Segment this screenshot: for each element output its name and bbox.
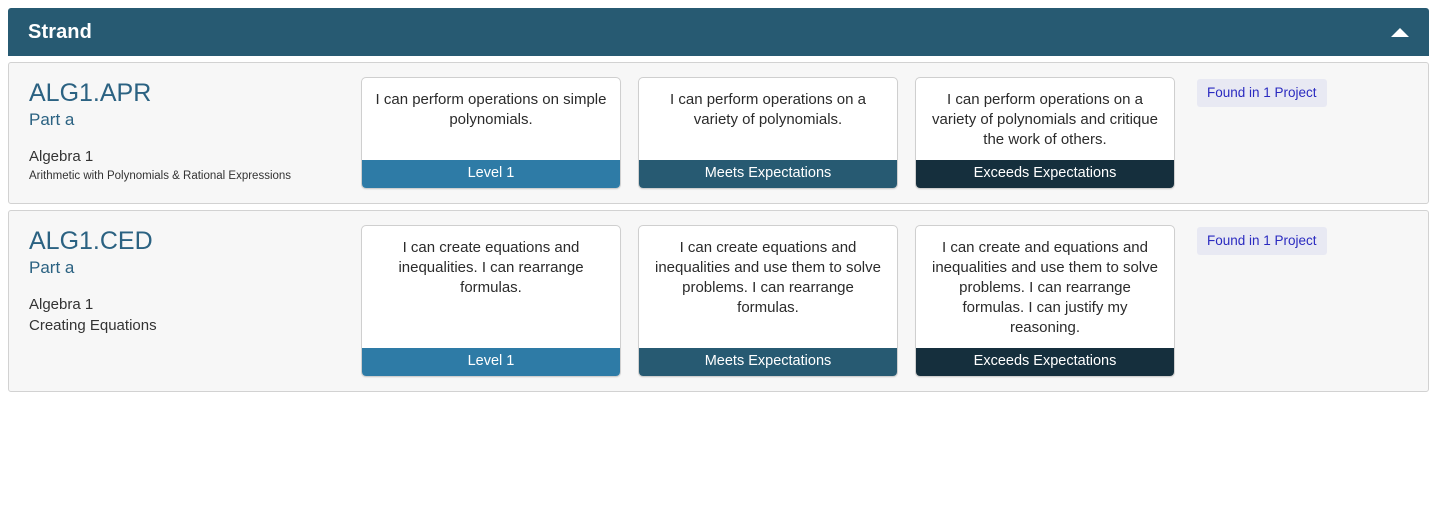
level-card[interactable]: I can create and equations and inequalit…	[915, 225, 1175, 377]
level-card-text: I can create equations and inequalities.…	[362, 226, 620, 348]
strand-section: Strand ALG1.APR Part a Algebra 1 Arithme…	[0, 0, 1437, 392]
level-card[interactable]: I can perform operations on simple polyn…	[361, 77, 621, 189]
standard-part: Part a	[29, 257, 347, 279]
standard-row: ALG1.CED Part a Algebra 1 Creating Equat…	[8, 210, 1429, 392]
level-card[interactable]: I can create equations and inequalities.…	[361, 225, 621, 377]
standard-domain: Arithmetic with Polynomials & Rational E…	[29, 168, 347, 184]
standard-course: Algebra 1	[29, 295, 347, 315]
level-card-group: I can create equations and inequalities.…	[361, 225, 1175, 377]
level-card-text: I can perform operations on simple polyn…	[362, 78, 620, 160]
standard-part: Part a	[29, 109, 347, 131]
level-card[interactable]: I can perform operations on a variety of…	[638, 77, 898, 189]
caret-up-icon[interactable]	[1391, 28, 1409, 37]
level-card-group: I can perform operations on simple polyn…	[361, 77, 1175, 189]
strand-title: Strand	[28, 21, 92, 44]
standard-info: ALG1.APR Part a Algebra 1 Arithmetic wit…	[9, 77, 361, 184]
badge-column: Found in 1 Project	[1175, 225, 1428, 255]
level-card[interactable]: I can perform operations on a variety of…	[915, 77, 1175, 189]
level-card-label: Meets Expectations	[639, 160, 897, 188]
standard-row: ALG1.APR Part a Algebra 1 Arithmetic wit…	[8, 62, 1429, 204]
standard-code: ALG1.CED	[29, 227, 347, 256]
level-card-text: I can create and equations and inequalit…	[916, 226, 1174, 348]
level-card-label: Exceeds Expectations	[916, 348, 1174, 376]
level-card-label: Level 1	[362, 348, 620, 376]
found-in-project-badge[interactable]: Found in 1 Project	[1197, 227, 1327, 255]
level-card-text: I can perform operations on a variety of…	[639, 78, 897, 160]
standard-info: ALG1.CED Part a Algebra 1 Creating Equat…	[9, 225, 361, 336]
strand-header[interactable]: Strand	[8, 8, 1429, 56]
badge-column: Found in 1 Project	[1175, 77, 1428, 107]
level-card-label: Exceeds Expectations	[916, 160, 1174, 188]
level-card-label: Meets Expectations	[639, 348, 897, 376]
standard-code: ALG1.APR	[29, 79, 347, 108]
standard-domain: Creating Equations	[29, 316, 347, 336]
level-card-text: I can create equations and inequalities …	[639, 226, 897, 348]
level-card-text: I can perform operations on a variety of…	[916, 78, 1174, 160]
found-in-project-badge[interactable]: Found in 1 Project	[1197, 79, 1327, 107]
standard-course: Algebra 1	[29, 147, 347, 167]
level-card[interactable]: I can create equations and inequalities …	[638, 225, 898, 377]
level-card-label: Level 1	[362, 160, 620, 188]
